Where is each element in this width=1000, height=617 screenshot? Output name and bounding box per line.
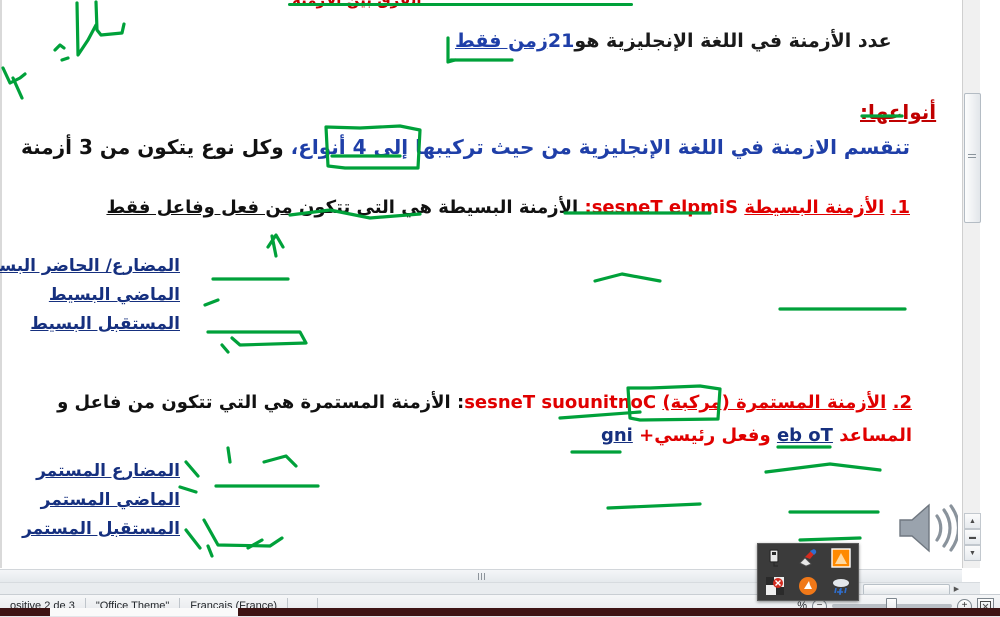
- row-arabic-label: الماضي البسيط: [0, 285, 180, 305]
- row-arabic-label: المستقبل البسيط: [0, 314, 180, 334]
- taskbar-sliver-right: [238, 608, 1000, 616]
- section2-title-en: Continuous Tenses: [464, 392, 656, 413]
- slide-canvas[interactable]: الفرق بين الأزمنة عدد الأزمنة في اللغة ا…: [0, 0, 960, 568]
- line1-number: 12: [548, 30, 574, 52]
- line2-part3: وكل نوع يتكون من: [100, 135, 284, 159]
- scroll-right-button[interactable]: ▶: [950, 584, 963, 594]
- row-arabic-label: الماضي المستمر: [0, 490, 180, 510]
- section1-title-en: Simple Tenses: [592, 197, 738, 218]
- section2-index: 2.: [893, 392, 912, 413]
- slide-separator-button[interactable]: ▬: [964, 529, 981, 545]
- slide-left-border: [0, 0, 2, 568]
- section2-to-be: To be: [777, 425, 833, 446]
- heading-types: أنواعها:: [860, 100, 936, 124]
- line2-part1: تنقسم الازمنة في اللغة الإنجليزية من حيث…: [374, 135, 910, 159]
- vertical-scrollbar-thumb[interactable]: [964, 93, 981, 223]
- section2-ing-suffix: ing: [601, 425, 633, 446]
- line1-suffix: زمن فقط: [455, 30, 548, 52]
- more-options-icon[interactable]: [825, 572, 858, 600]
- slide-show-icon[interactable]: [825, 544, 858, 572]
- previous-slide-button[interactable]: ▲: [964, 513, 981, 529]
- eraser-icon[interactable]: [758, 572, 791, 600]
- pen-icon[interactable]: [758, 544, 791, 572]
- scrollbar-grip-icon: [968, 154, 976, 159]
- powerpoint-slideshow-window: الفرق بين الأزمنة عدد الأزمنة في اللغة ا…: [0, 0, 1000, 616]
- section1-description: الأزمنة البسيطة هي التي تتكون: [299, 197, 578, 218]
- section1-title-ar: الأزمنة البسيطة: [744, 197, 884, 218]
- ink-stroke-top-underline: [288, 3, 633, 6]
- row-arabic-label: المستقبل المستمر: [0, 519, 180, 539]
- vertical-scrollbar[interactable]: ▲ ▬ ▼: [962, 0, 980, 568]
- line2-number-3: 3: [79, 135, 93, 159]
- taskbar-sliver-left: [0, 608, 50, 616]
- row-arabic-label: المضارع المستمر: [0, 461, 180, 481]
- section-2-heading-line2: المساعد To be وفعل رئيسي+ ing: [0, 425, 912, 446]
- speaker-icon[interactable]: [896, 500, 958, 556]
- line2-number-4: 4: [353, 135, 367, 159]
- next-slide-button[interactable]: ▼: [964, 545, 981, 561]
- ink-tools-toolbar[interactable]: [757, 543, 859, 601]
- line-count-of-tenses: عدد الأزمنة في اللغة الإنجليزية هو12زمن …: [455, 30, 892, 52]
- pointer-options-icon[interactable]: [791, 572, 824, 600]
- section1-colon: :: [584, 197, 591, 218]
- ink-annotation-layer: [0, 0, 960, 568]
- taskbar-sliver-white: [50, 608, 238, 616]
- section-1-heading: 1. الأزمنة البسيطة Simple Tenses: الأزمن…: [60, 197, 910, 218]
- line2-part2: أنواع،: [291, 135, 346, 159]
- section-2-heading: 2. الأزمنة المستمرة (مركبة) Continuous T…: [0, 392, 912, 413]
- section2-helper-label: المساعد: [839, 425, 912, 446]
- section2-description-line1: الأزمنة المستمرة هي التي تتكون من فاعل و: [57, 392, 451, 413]
- section1-index: 1.: [891, 197, 910, 218]
- splitter-grip-icon: [474, 573, 488, 580]
- section1-description-underlined: من فعل وفاعل فقط: [106, 197, 292, 218]
- line1-prefix: عدد الأزمنة في اللغة الإنجليزية هو: [574, 30, 891, 52]
- line-division-of-tenses: تنقسم الازمنة في اللغة الإنجليزية من حيث…: [60, 135, 910, 159]
- section2-title-ar: الأزمنة المستمرة (مركبة): [662, 392, 886, 413]
- highlighter-icon[interactable]: [791, 544, 824, 572]
- section2-main-verb-label: وفعل رئيسي+: [639, 425, 771, 446]
- line2-part4: أزمنة: [21, 135, 72, 159]
- row-arabic-label: المضارع/ الحاضر البسيط: [0, 256, 180, 276]
